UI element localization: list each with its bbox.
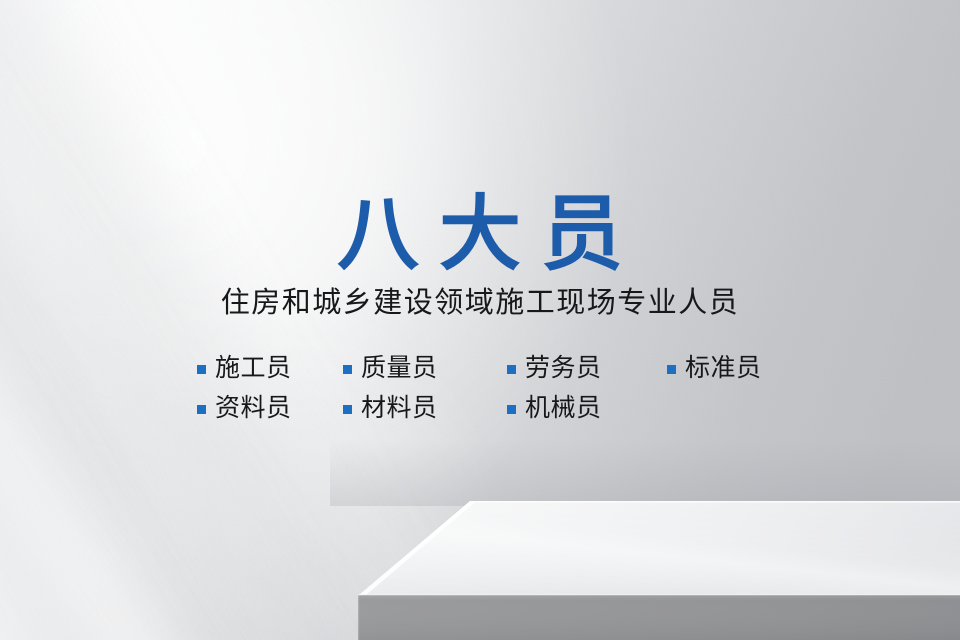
list-item: 资料员: [197, 393, 343, 423]
list-item: 机械员: [507, 393, 667, 423]
square-bullet-icon: [667, 365, 676, 374]
role-label: 机械员: [525, 393, 602, 423]
square-bullet-icon: [507, 405, 516, 414]
list-item: 材料员: [343, 393, 507, 423]
role-label: 质量员: [361, 353, 438, 383]
square-bullet-icon: [197, 365, 206, 374]
square-bullet-icon: [197, 405, 206, 414]
square-bullet-icon: [343, 365, 352, 374]
page-title: 八大员: [0, 187, 960, 283]
role-list: 施工员 质量员 劳务员 标准员 资料员 材料员: [197, 348, 797, 428]
role-label: 材料员: [361, 393, 438, 423]
role-label: 资料员: [215, 393, 292, 423]
list-item: 施工员: [197, 353, 343, 383]
list-item: 劳务员: [507, 353, 667, 383]
list-item: 标准员: [667, 353, 797, 383]
role-label: 劳务员: [525, 353, 602, 383]
page-subtitle: 住房和城乡建设领域施工现场专业人员: [0, 285, 960, 321]
role-label: 施工员: [215, 353, 292, 383]
role-label: 标准员: [685, 353, 762, 383]
square-bullet-icon: [343, 405, 352, 414]
list-item: 质量员: [343, 353, 507, 383]
square-bullet-icon: [507, 365, 516, 374]
poster-canvas: 八大员 住房和城乡建设领域施工现场专业人员 施工员 质量员 劳务员 标准员: [0, 0, 960, 640]
